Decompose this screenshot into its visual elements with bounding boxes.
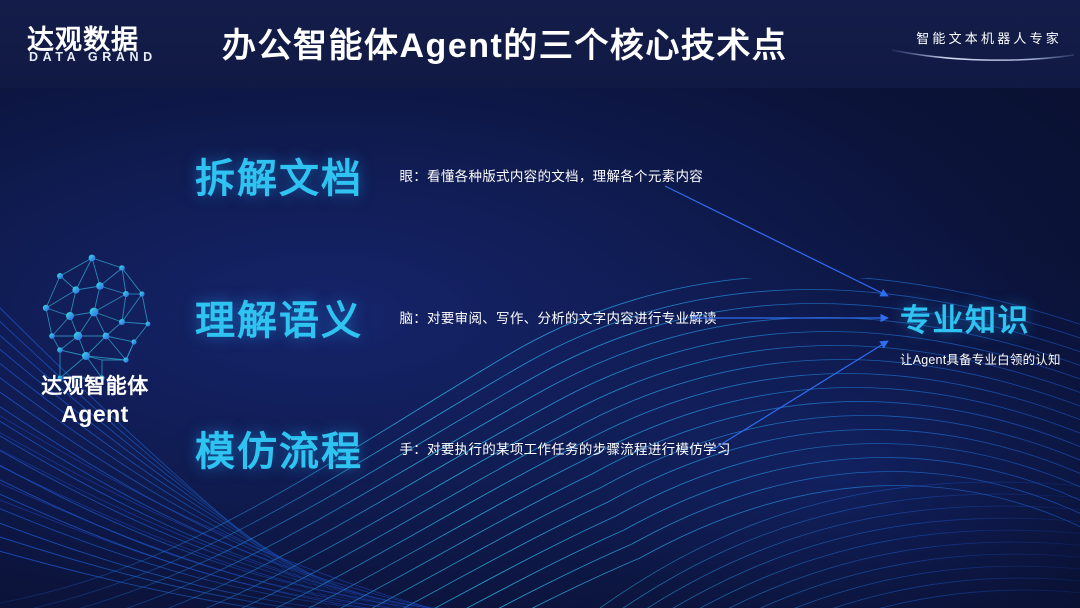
target-block: 专业知识 让Agent具备专业白领的认知 [900, 295, 1075, 368]
target-heading: 专业知识 [900, 295, 1075, 340]
slide-canvas: 达观数据 DATA GRAND 办公智能体Agent的三个核心技术点 智能文本机… [0, 0, 1080, 608]
target-subtitle: 让Agent具备专业白领的认知 [900, 349, 1075, 368]
